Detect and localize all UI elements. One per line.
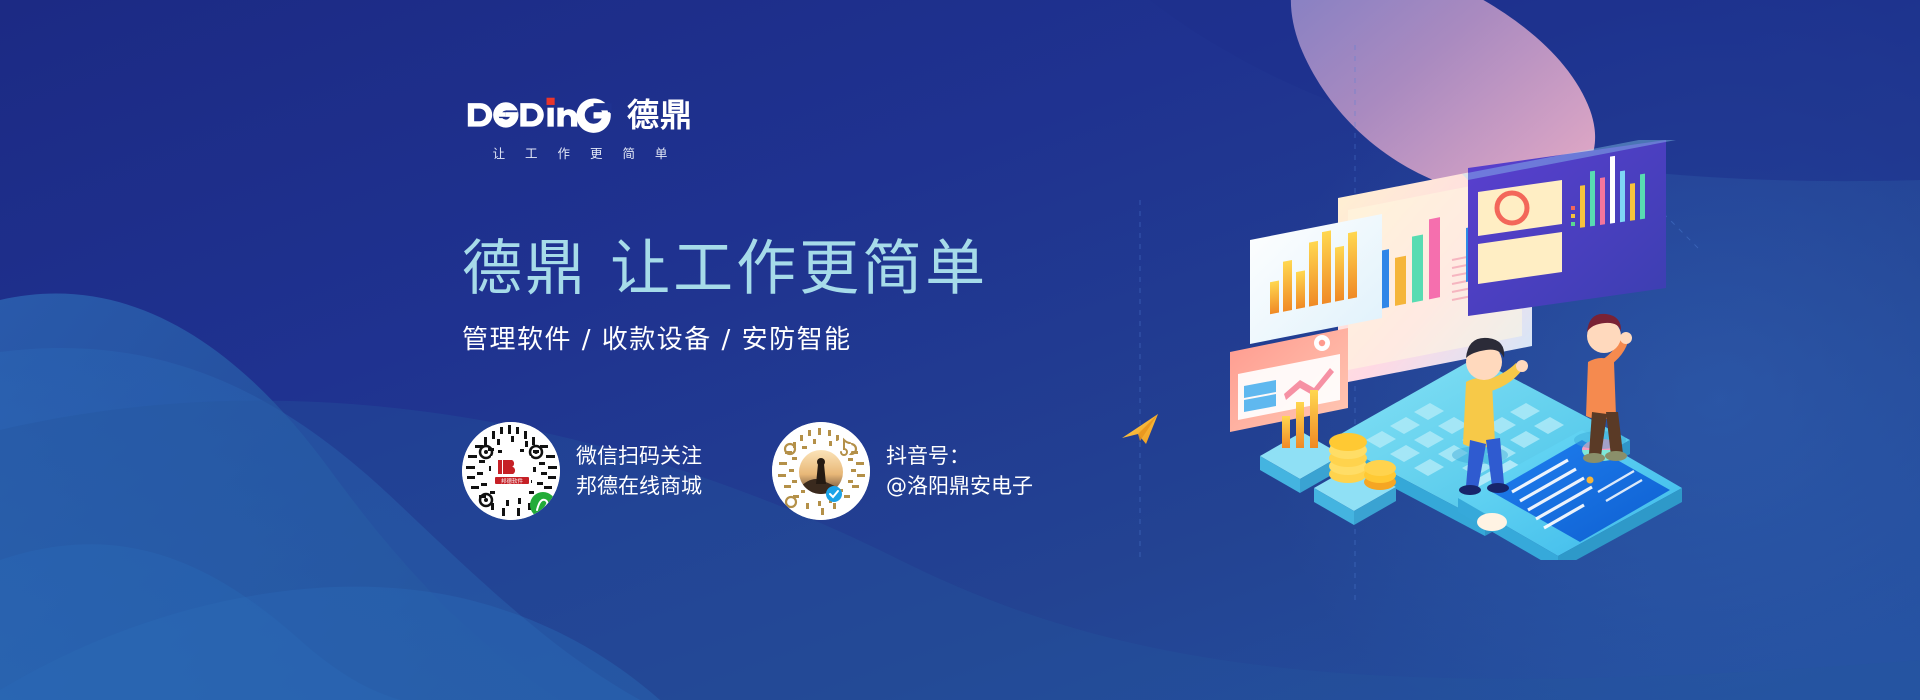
douyin-qr-code[interactable] <box>772 422 870 520</box>
svg-text:邦德软件: 邦德软件 <box>501 477 524 485</box>
wechat-badge-icon <box>530 492 556 518</box>
brand-logo[interactable]: 德鼎 让 工 作 更 简 单 <box>466 92 696 162</box>
person-orange-shirt <box>1574 314 1632 463</box>
wechat-qr-item[interactable]: 邦德软件 微信扫码关注 邦德在线商城 <box>462 422 702 520</box>
isometric-analytics-illustration <box>1230 140 1690 560</box>
logo-chinese-name: 德鼎 <box>627 96 693 134</box>
wechat-qr-code[interactable]: 邦德软件 <box>462 422 560 520</box>
paper-plane-icon <box>1118 408 1164 452</box>
logo-tagline: 让 工 作 更 简 单 <box>466 143 696 162</box>
purple-monitor <box>1462 140 1676 316</box>
logo-accent-dot <box>547 98 555 105</box>
douyin-qr-line1: 抖音号： <box>886 441 1033 471</box>
wechat-qr-pattern: 邦德软件 <box>462 422 560 520</box>
wechat-qr-caption: 微信扫码关注 邦德在线商城 <box>576 441 702 501</box>
douyin-qr-pattern <box>772 422 870 520</box>
douyin-qr-caption: 抖音号： @洛阳鼎安电子 <box>886 441 1033 501</box>
deding-wordmark-icon <box>466 94 618 134</box>
marketing-banner: 德鼎 让 工 作 更 简 单 德鼎 让工作更简单 管理软件 / 收款设备 / 安… <box>0 0 1920 700</box>
douyin-verified-badge-icon <box>826 486 842 502</box>
wechat-qr-line1: 微信扫码关注 <box>576 441 702 471</box>
qr-code-group: 邦德软件 微信扫码关注 邦德在线商城 <box>462 422 1033 520</box>
douyin-qr-item[interactable]: 抖音号： @洛阳鼎安电子 <box>772 422 1033 520</box>
headline: 德鼎 让工作更简单 <box>462 235 988 303</box>
wechat-qr-line2: 邦德在线商城 <box>576 471 702 501</box>
douyin-note-icon <box>834 439 852 457</box>
subheadline: 管理软件 / 收款设备 / 安防智能 <box>462 323 852 357</box>
douyin-qr-line2: @洛阳鼎安电子 <box>886 471 1033 501</box>
logo-row: 德鼎 <box>466 92 696 134</box>
